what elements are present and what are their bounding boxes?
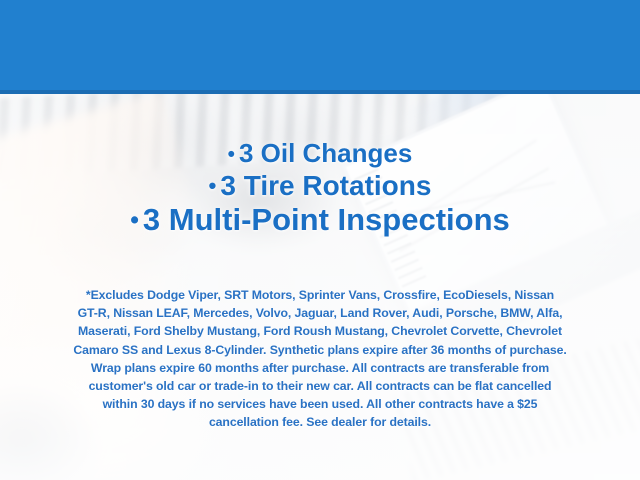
disclaimer-line: GT-R, Nissan LEAF, Mercedes, Volvo, Jagu… bbox=[32, 304, 608, 322]
bullet-icon: • bbox=[209, 173, 217, 198]
disclaimer-line: Wrap plans expire 60 months after purcha… bbox=[32, 359, 608, 377]
benefit-item: •3 Multi-Point Inspections bbox=[0, 202, 640, 239]
disclaimer-line: Camaro SS and Lexus 8-Cylinder. Syntheti… bbox=[32, 341, 608, 359]
disclaimer-line: customer's old car or trade-in to their … bbox=[32, 377, 608, 395]
benefit-item: •3 Oil Changes bbox=[0, 138, 640, 169]
disclaimer-line: cancellation fee. See dealer for details… bbox=[32, 413, 608, 431]
benefit-item-label: 3 Tire Rotations bbox=[220, 170, 431, 201]
disclaimer-line: Maserati, Ford Shelby Mustang, Ford Rous… bbox=[32, 322, 608, 340]
extracare-package-promo-banner: ExtraCare Package* •3 Oil Changes •3 Tir… bbox=[0, 0, 640, 480]
bullet-icon: • bbox=[228, 143, 235, 166]
bullet-icon: • bbox=[130, 207, 139, 234]
disclaimer-line: *Excludes Dodge Viper, SRT Motors, Sprin… bbox=[32, 286, 608, 304]
disclaimer-line: within 30 days if no services have been … bbox=[32, 395, 608, 413]
header-banner bbox=[0, 0, 640, 90]
benefit-item-label: 3 Oil Changes bbox=[239, 138, 412, 168]
header-underline bbox=[0, 90, 640, 94]
disclaimer-text: *Excludes Dodge Viper, SRT Motors, Sprin… bbox=[32, 286, 608, 432]
benefit-item: •3 Tire Rotations bbox=[0, 169, 640, 202]
benefit-item-label: 3 Multi-Point Inspections bbox=[143, 202, 510, 237]
benefits-list: •3 Oil Changes •3 Tire Rotations •3 Mult… bbox=[0, 138, 640, 238]
